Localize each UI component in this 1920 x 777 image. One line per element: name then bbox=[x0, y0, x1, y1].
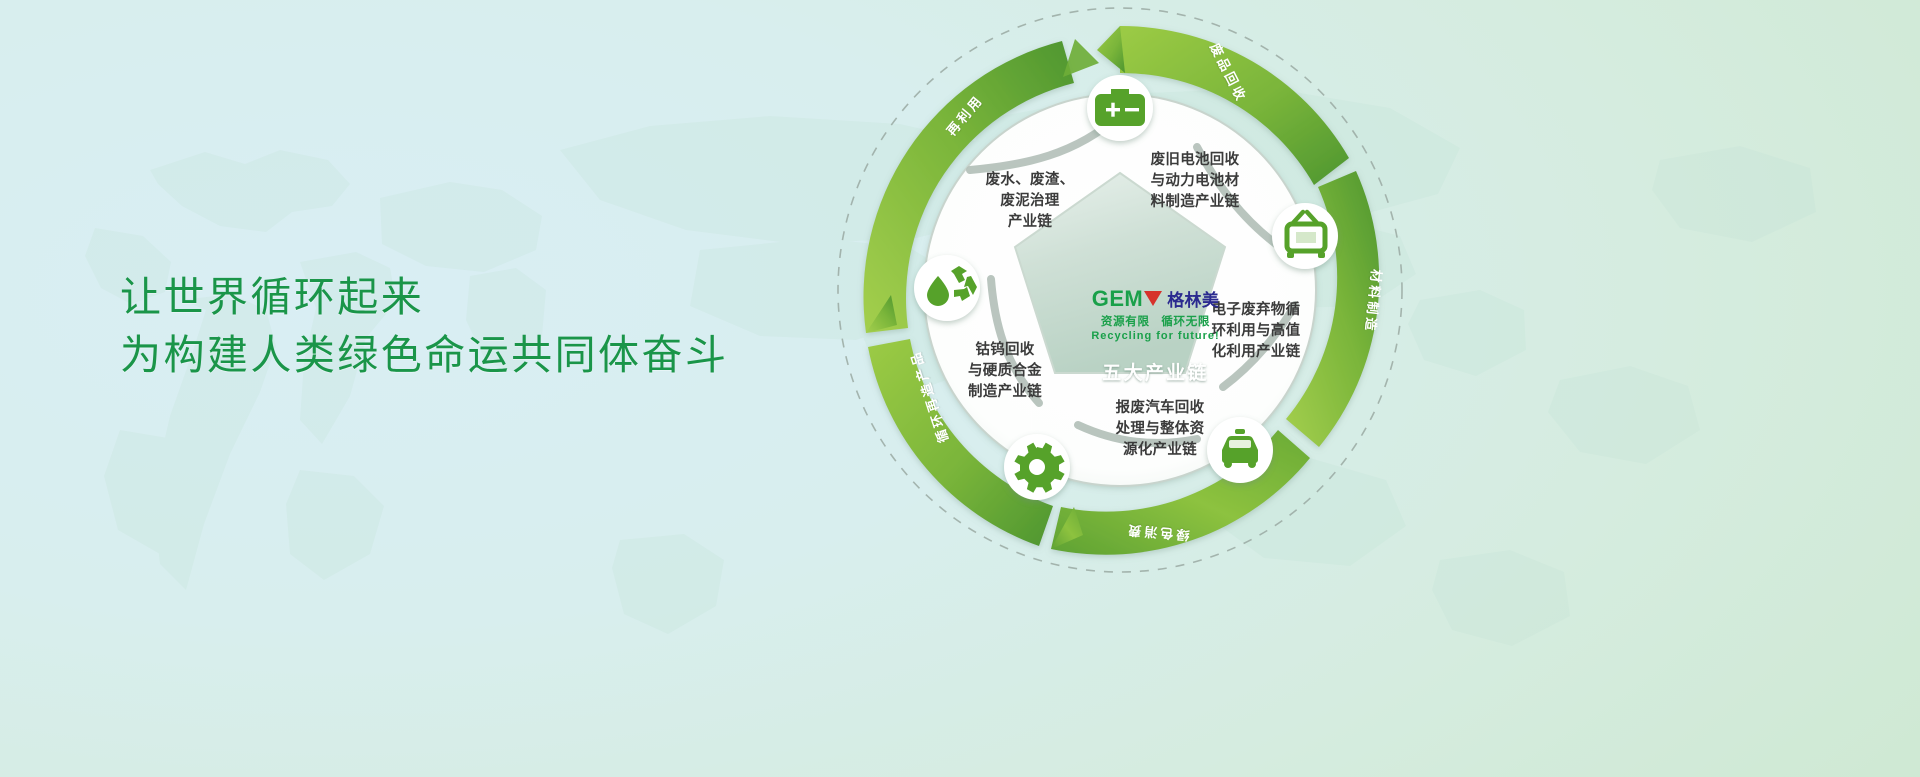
banner-stage: 让世界循环起来 为构建人类绿色命运共同体奋斗 bbox=[0, 0, 1920, 777]
gear-icon bbox=[1004, 434, 1070, 500]
segment-label-cobalt: 钴钨回收 与硬质合金 制造产业链 bbox=[930, 340, 1080, 403]
segment-label-vehicle: 报废汽车回收 处理与整体资 源化产业链 bbox=[1085, 398, 1235, 461]
logo-latin-wordmark: GEM bbox=[1092, 288, 1162, 310]
segment-label-waste: 废水、废渣、 废泥治理 产业链 bbox=[955, 170, 1105, 233]
headline-line-2: 为构建人类绿色命运共同体奋斗 bbox=[120, 326, 728, 384]
logo-latin-text: GEM bbox=[1092, 288, 1143, 310]
battery-icon bbox=[1087, 75, 1153, 141]
segment-label-battery: 废旧电池回收 与动力电池材 料制造产业链 bbox=[1120, 150, 1270, 213]
logo-slogan: 资源有限 循环无限 bbox=[1073, 313, 1238, 329]
headline-line-1: 让世界循环起来 bbox=[120, 268, 728, 326]
logo-slogan-english: Recycling for future! bbox=[1073, 330, 1238, 342]
triangle-icon bbox=[1144, 291, 1162, 306]
logo-slogan-a: 资源有限 bbox=[1101, 316, 1150, 328]
diagram-center-title: 五大产业链 bbox=[1073, 358, 1238, 385]
logo-slogan-b: 循环无限 bbox=[1161, 316, 1210, 328]
logo-chinese-wordmark: 格林美 bbox=[1167, 286, 1219, 311]
television-icon bbox=[1272, 203, 1338, 269]
headline: 让世界循环起来 为构建人类绿色命运共同体奋斗 bbox=[120, 268, 728, 384]
gem-logo: GEM 格林美 资源有限 循环无限 Recycling for future! … bbox=[1073, 286, 1238, 385]
water-recycle-icon bbox=[914, 255, 980, 321]
logo-brand-row: GEM 格林美 bbox=[1073, 286, 1238, 311]
